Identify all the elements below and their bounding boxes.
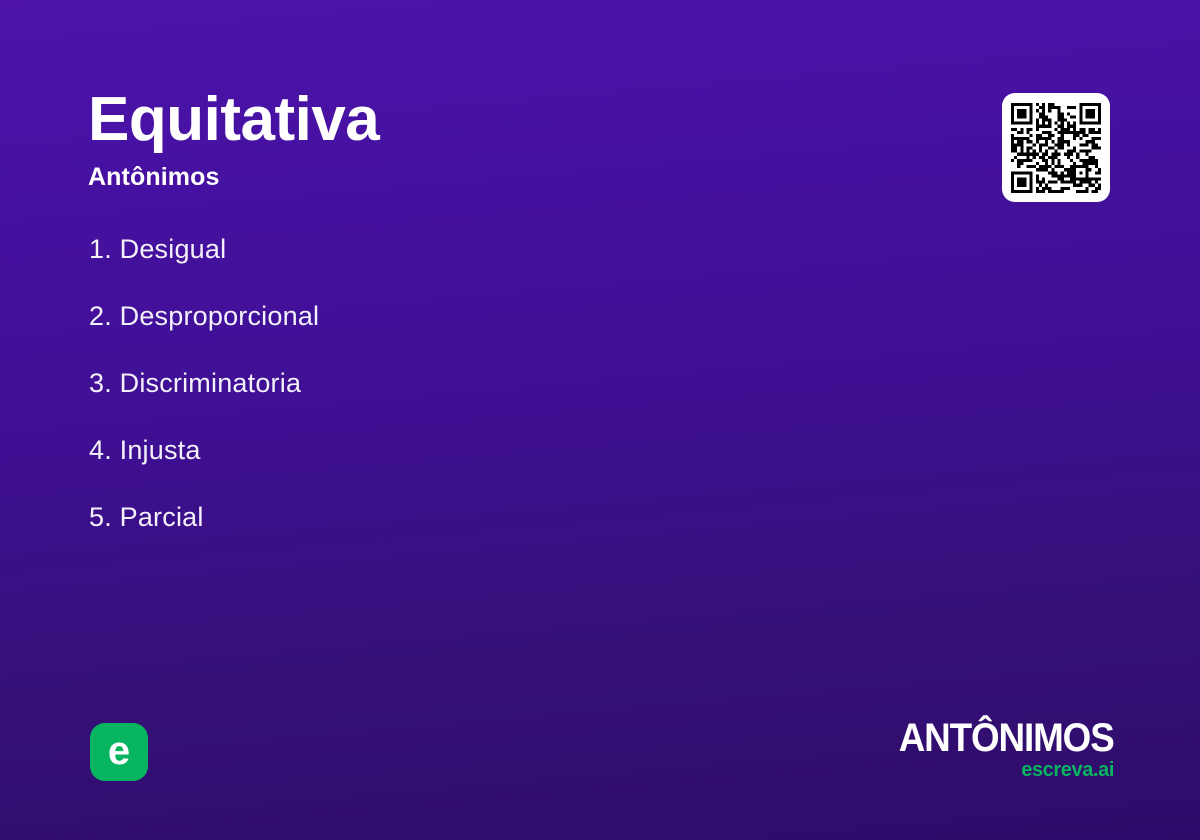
list-item: 3. Discriminatoria xyxy=(89,370,319,397)
antonym-list: 1. Desigual 2. Desproporcional 3. Discri… xyxy=(89,236,319,531)
card-subtitle-category: Antônimos xyxy=(88,165,379,190)
list-item: 4. Injusta xyxy=(89,437,319,464)
qr-code-card[interactable] xyxy=(1002,93,1110,202)
brand-site: escreva.ai xyxy=(880,760,1114,780)
qr-code-icon xyxy=(1011,103,1101,193)
card-header: Equitativa Antônimos xyxy=(88,88,379,190)
page-title: Equitativa xyxy=(88,88,379,151)
list-item-term: Injusta xyxy=(120,435,201,465)
brand-name: ANTÔNIMOS xyxy=(899,718,1114,758)
antonyms-word-card: Equitativa Antônimos 1. Desigual 2. Desp… xyxy=(0,0,1200,840)
list-item-index: 5. xyxy=(89,502,112,532)
list-item: 5. Parcial xyxy=(89,504,319,531)
list-item: 2. Desproporcional xyxy=(89,303,319,330)
list-item-term: Parcial xyxy=(120,502,204,532)
list-item-index: 1. xyxy=(89,234,112,264)
list-item: 1. Desigual xyxy=(89,236,319,263)
list-item-index: 4. xyxy=(89,435,112,465)
list-item-term: Discriminatoria xyxy=(120,368,302,398)
app-icon-letter: e xyxy=(108,731,130,771)
escreva-app-icon[interactable]: e xyxy=(90,723,148,781)
list-item-index: 3. xyxy=(89,368,112,398)
list-item-term: Desigual xyxy=(120,234,227,264)
list-item-term: Desproporcional xyxy=(120,301,320,331)
brand-lockup: ANTÔNIMOS escreva.ai xyxy=(880,718,1114,780)
list-item-index: 2. xyxy=(89,301,112,331)
